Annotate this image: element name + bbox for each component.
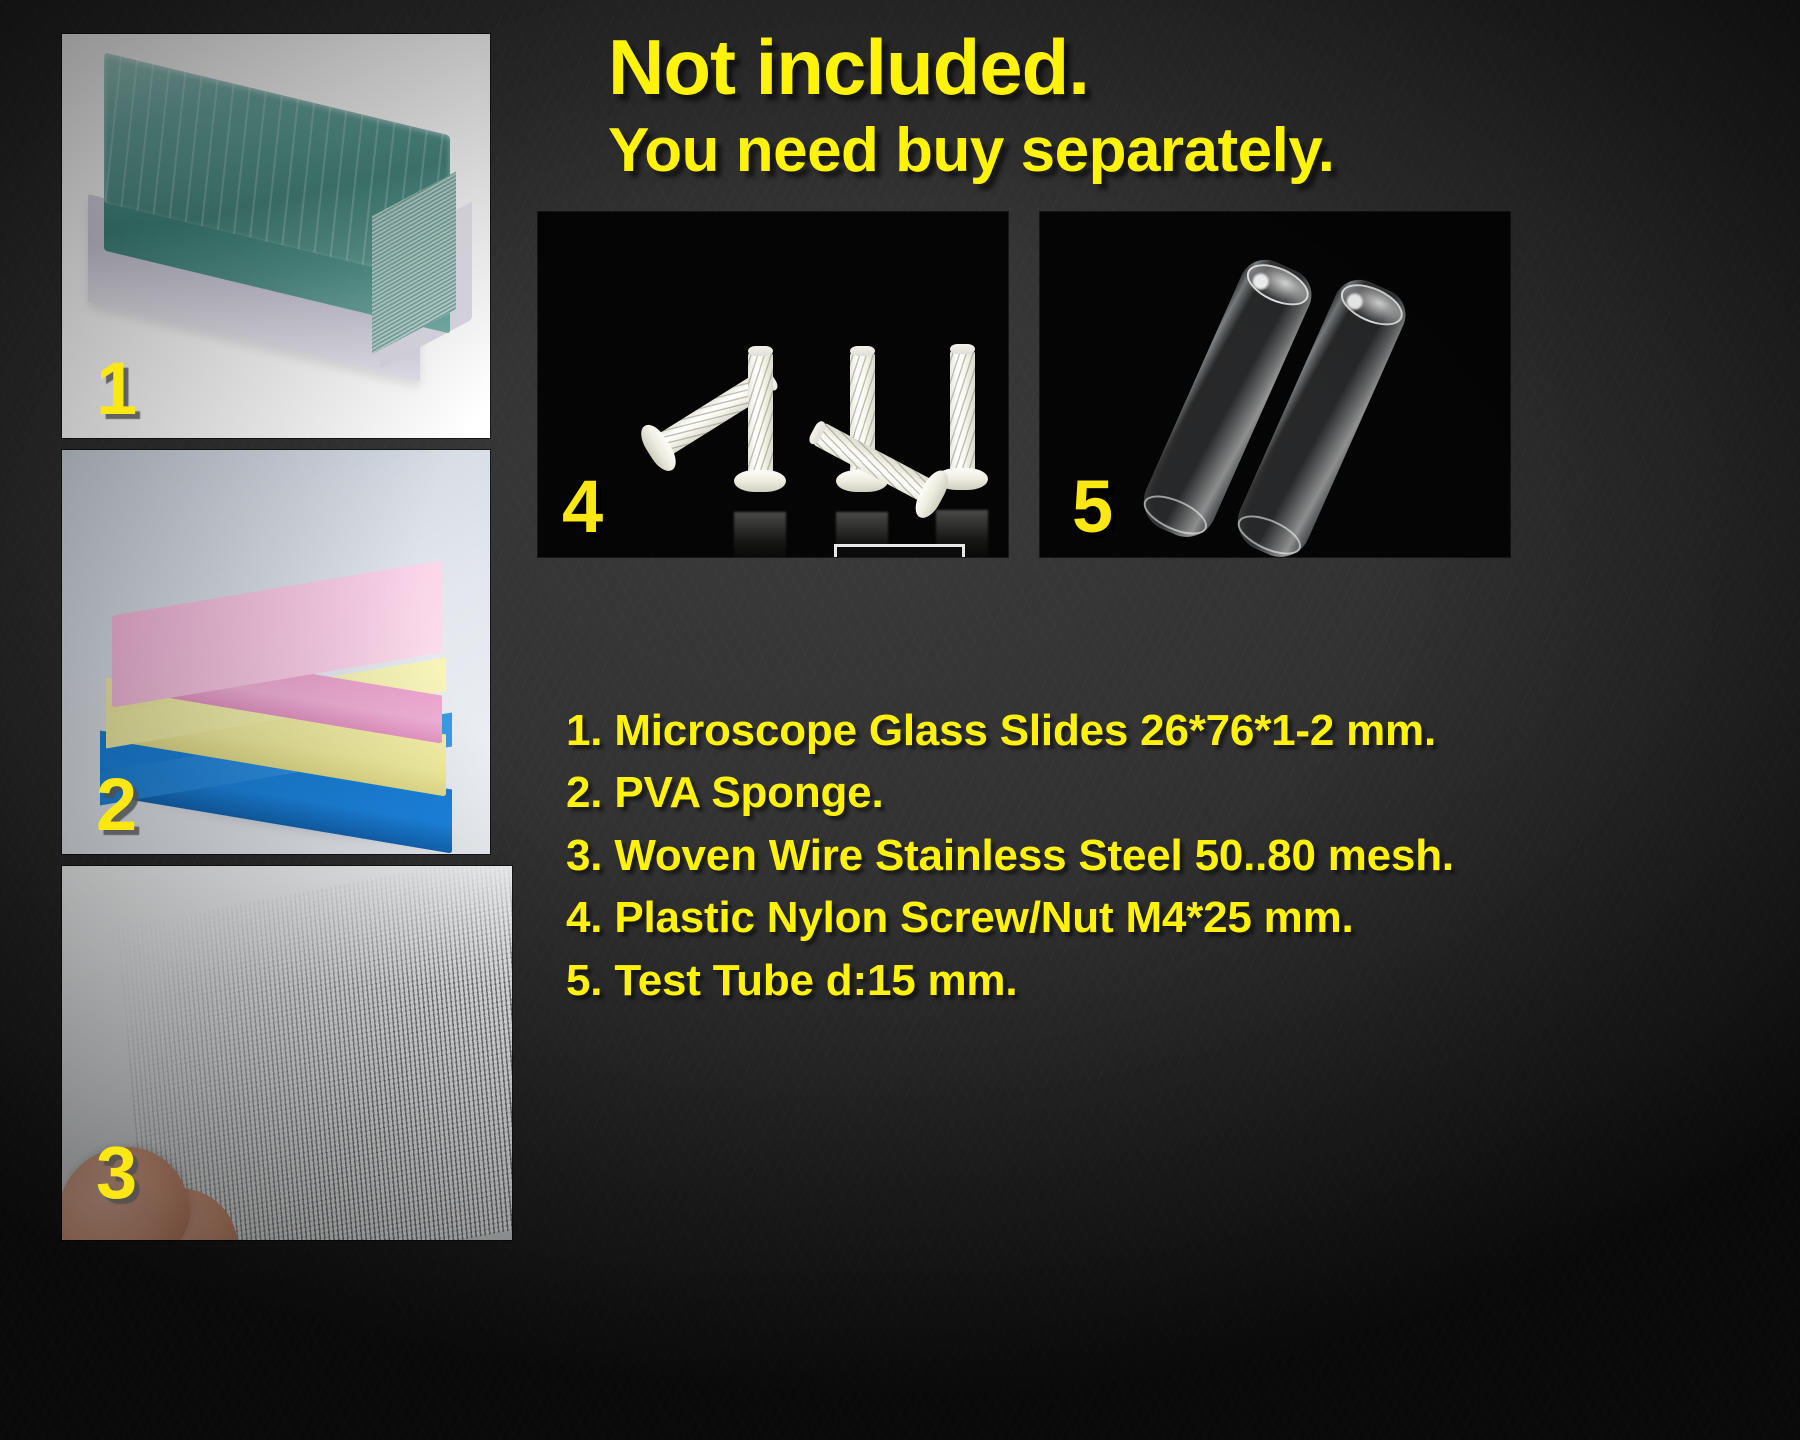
glass-slide-box-illustration	[80, 76, 472, 366]
spec-list-item-3: 3. Woven Wire Stainless Steel 50..80 mes…	[566, 825, 1686, 887]
spec-list-item-5: 5. Test Tube d:15 mm.	[566, 950, 1686, 1012]
spec-list-item-1: 1. Microscope Glass Slides 26*76*1-2 mm.	[566, 700, 1686, 762]
wire-mesh-top-blur	[62, 866, 512, 986]
badge-number-3: 3	[96, 1136, 136, 1210]
badge-number-5: 5	[1072, 470, 1112, 544]
spec-list-item-4: 4. Plastic Nylon Screw/Nut M4*25 mm.	[566, 887, 1686, 949]
badge-number-4: 4	[562, 470, 602, 544]
headline-line-2: You need buy separately.	[608, 120, 1608, 182]
test-tube-bottom	[1232, 507, 1306, 557]
screw-reflection	[734, 512, 786, 557]
nylon-nut-inset	[834, 544, 965, 557]
screw-shaft	[748, 352, 773, 476]
test-tube-rim	[1241, 256, 1315, 314]
screw-tip	[748, 346, 773, 356]
headline-block: Not included. You need buy separately.	[608, 28, 1608, 182]
screw-head	[734, 470, 786, 492]
headline-line-1: Not included.	[608, 28, 1608, 106]
screw-tip	[850, 346, 875, 356]
spec-list: 1. Microscope Glass Slides 26*76*1-2 mm.…	[566, 700, 1686, 1012]
screw-shaft	[950, 350, 975, 474]
spec-list-item-2: 2. PVA Sponge.	[566, 762, 1686, 824]
panel-nylon-screws	[538, 212, 1008, 557]
test-tube-bottom	[1138, 487, 1212, 542]
product-info-slide: 1 2 3	[0, 0, 1800, 1440]
badge-number-1: 1	[96, 352, 136, 426]
badge-number-2: 2	[96, 768, 136, 842]
test-tube-rim	[1335, 276, 1409, 334]
screw-tip	[950, 344, 975, 354]
